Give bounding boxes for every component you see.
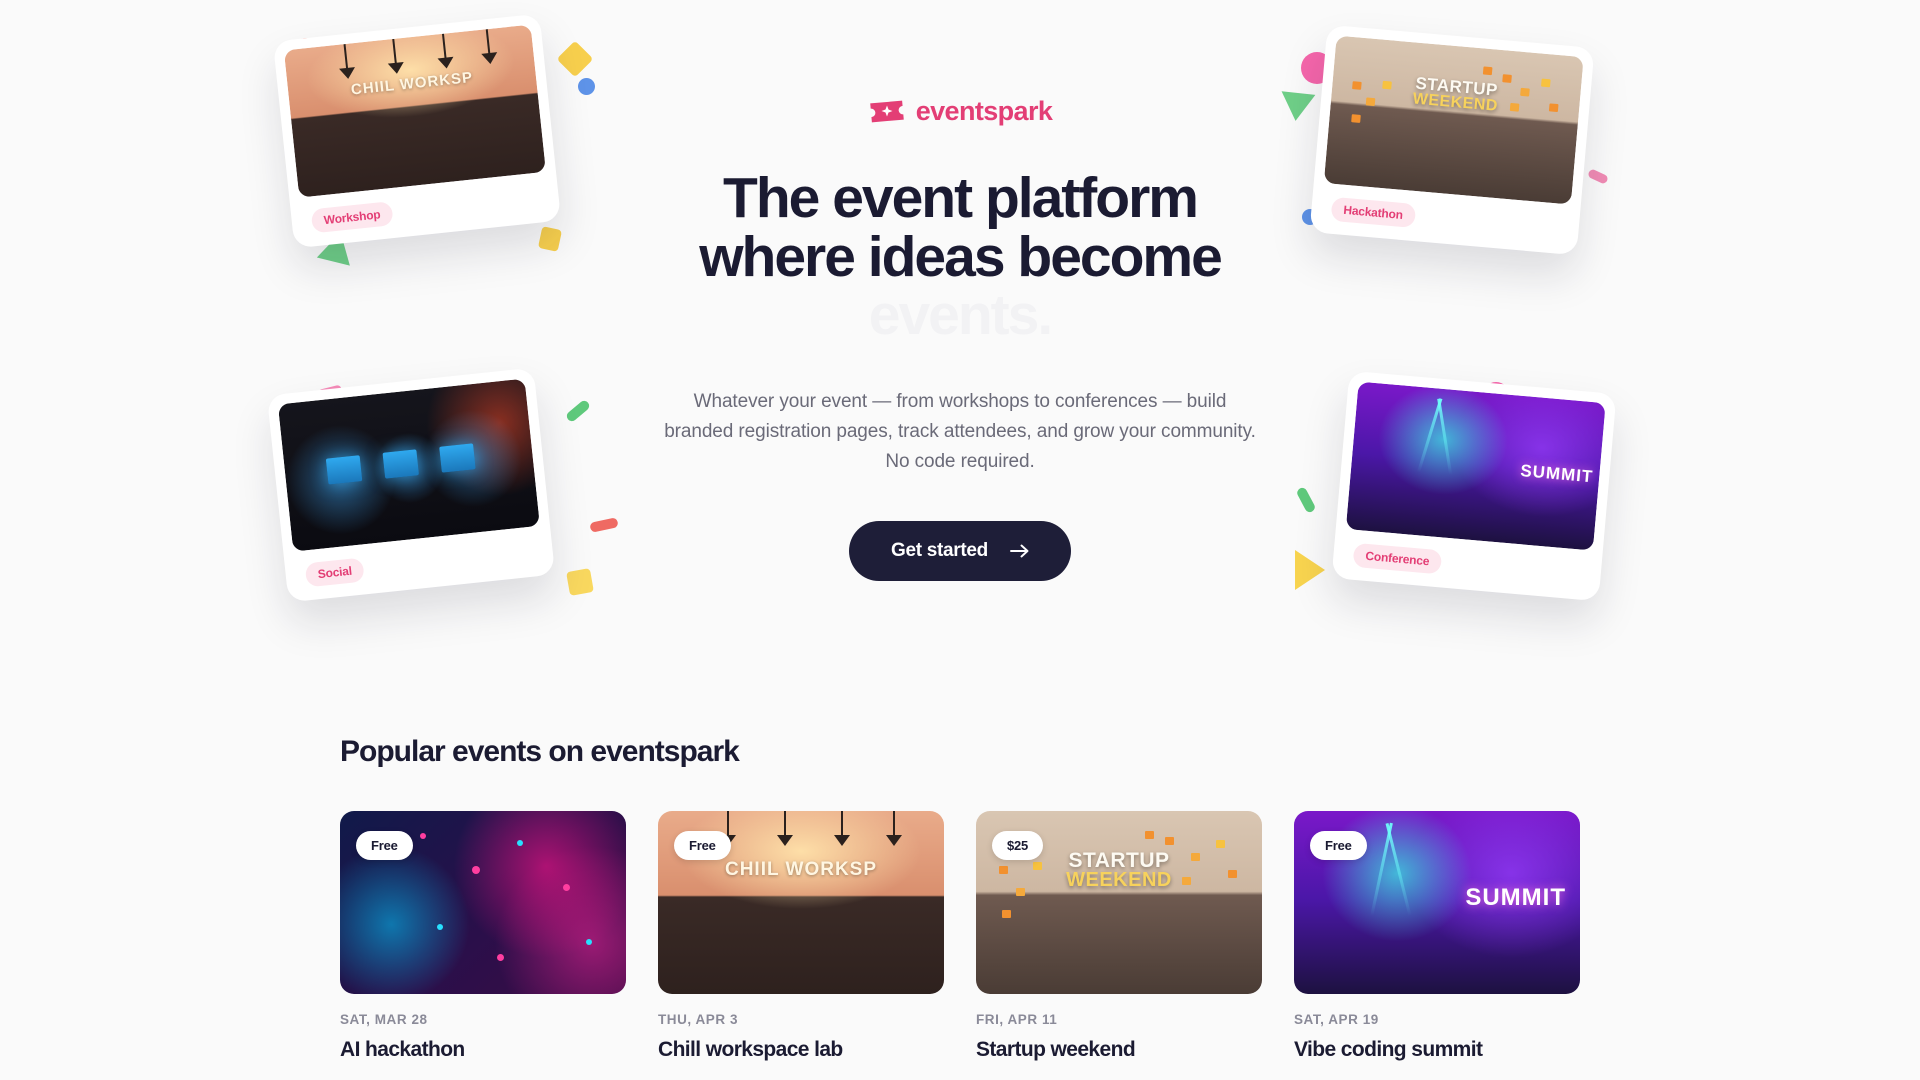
event-title: Vibe coding summit [1294,1037,1580,1063]
events-grid: Free SAT, MAR 28 AI hackathon Free [340,811,1580,1063]
conference-stage-sign: SUMMIT [1520,461,1595,487]
event-card[interactable]: Free CHIIL WORKSP THU, APR 3 Chill works… [658,811,944,1063]
event-date: SAT, APR 19 [1294,1012,1580,1027]
floating-card-thumb: STARTUPWEEKEND [1324,36,1584,205]
red-dash-shape [589,517,618,533]
pink-dash-shape-right [1587,168,1609,185]
hero-section: CHIIL WORKSP Workshop [0,0,1920,735]
price-badge: Free [356,831,413,860]
popular-events-section: Popular events on eventspark Free SAT, M… [0,735,1920,1063]
event-card[interactable]: Free SUMMIT SAT, APR 19 Vibe coding summ… [1294,811,1580,1063]
category-badge: Hackathon [1331,197,1416,228]
workshop-photo: CHIIL WORKSP [284,25,546,198]
event-thumbnail: $25 STARTUPWEEKEND [976,811,1262,994]
get-started-button[interactable]: Get started [849,521,1071,581]
headline-line-2: where ideas become [650,228,1270,287]
green-dash-shape [565,399,591,423]
ticket-icon [868,99,906,124]
blue-circle-shape [578,78,595,95]
hero-content: eventspark The event platform where idea… [650,96,1270,581]
event-card[interactable]: $25 STARTUPWEEKEND [976,811,1262,1063]
event-date: SAT, MAR 28 [340,1012,626,1027]
get-started-label: Get started [891,540,988,562]
green-triangle-shape-right [1279,91,1316,122]
event-date: THU, APR 3 [658,1012,944,1027]
yellow-diamond-shape [557,41,594,78]
event-title: Chill workspace lab [658,1037,944,1063]
floating-card-conference[interactable]: SUMMIT Conference [1331,371,1616,602]
page-title: The event platform where ideas become ev… [650,169,1270,345]
yellow-triangle-shape [1295,550,1325,590]
category-badge: Workshop [311,201,394,233]
social-photo [278,379,540,552]
floating-card-thumb: SUMMIT [1346,382,1606,551]
event-thumbnail: Free CHIIL WORKSP [658,811,944,994]
floating-card-workshop[interactable]: CHIIL WORKSP Workshop [273,14,561,249]
headline-line-3: events. [650,286,1270,345]
workshop-wall-sign: CHIIL WORKSP [658,859,944,881]
hackathon-photo: STARTUPWEEKEND [1324,36,1584,205]
floating-card-social[interactable]: Social [267,368,555,603]
category-badge: Social [305,557,365,587]
event-date: FRI, APR 11 [976,1012,1262,1027]
floating-card-thumb: CHIIL WORKSP [284,25,546,198]
brand-logo[interactable]: eventspark [650,96,1270,127]
floating-card-hackathon[interactable]: STARTUPWEEKEND Hackathon [1309,25,1594,256]
event-title: AI hackathon [340,1037,626,1063]
section-heading: Popular events on eventspark [340,735,1580,769]
event-thumbnail: Free [340,811,626,994]
event-thumbnail: Free SUMMIT [1294,811,1580,994]
conference-photo: SUMMIT [1346,382,1606,551]
price-badge: Free [1310,831,1367,860]
arrow-right-icon [1010,544,1029,558]
event-card[interactable]: Free SAT, MAR 28 AI hackathon [340,811,626,1063]
headline-line-1: The event platform [650,169,1270,228]
conference-stage-sign: SUMMIT [1465,884,1566,912]
hero-subheadline: Whatever your event — from workshops to … [650,387,1270,477]
workshop-wall-sign: CHIIL WORKSP [288,63,536,106]
yellow-square-shape [566,568,594,596]
price-badge: $25 [992,831,1043,860]
category-badge: Conference [1353,543,1443,575]
yellow-square-shape-top [538,226,562,252]
floating-card-thumb [278,379,540,552]
green-dash-shape-right [1295,486,1316,514]
brand-name: eventspark [916,96,1053,127]
price-badge: Free [674,831,731,860]
event-title: Startup weekend [976,1037,1262,1063]
